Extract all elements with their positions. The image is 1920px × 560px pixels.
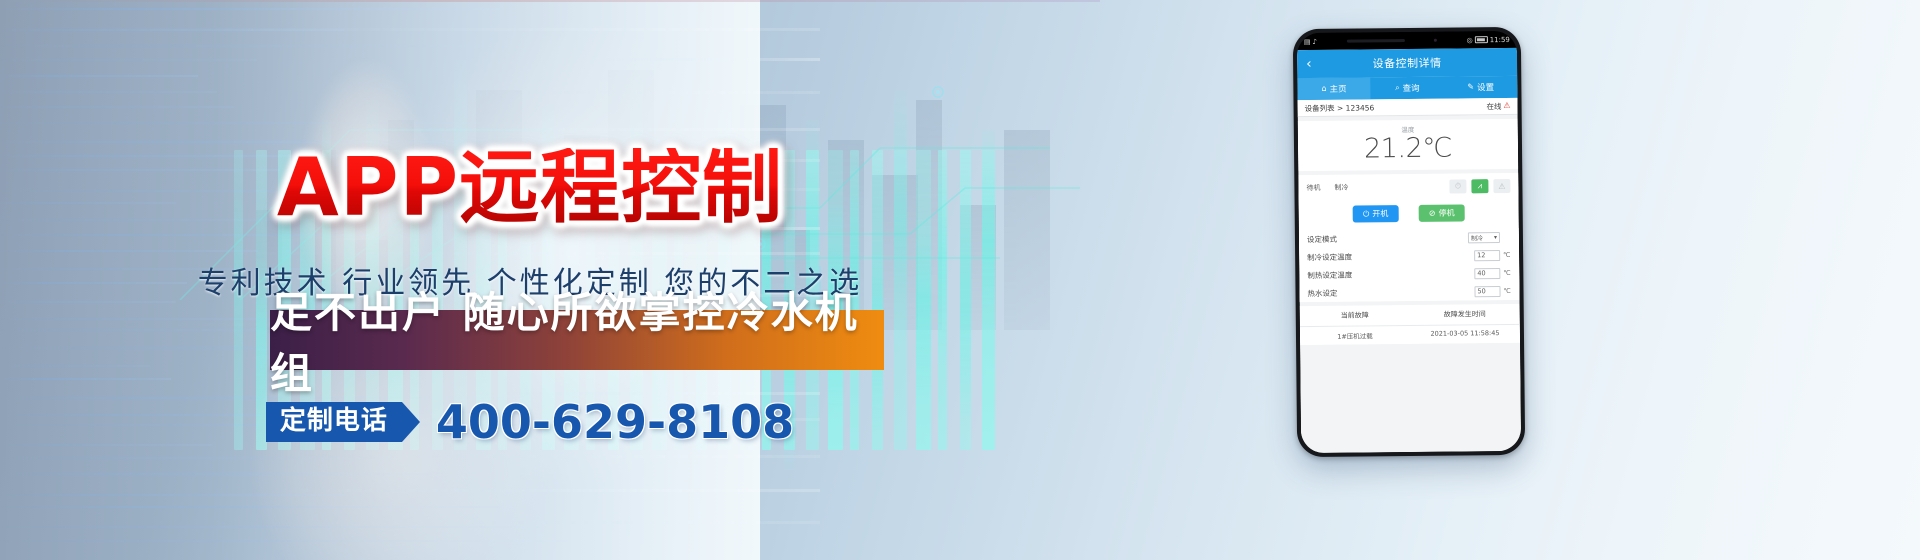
app-tab-bar: ⌂ 主页 ⌕ 查询 ✎ 设置: [1297, 76, 1517, 100]
phone-mockup: ▤ ♪ ◎ 11:59 ‹ 设备控制详情 ⌂: [1293, 27, 1525, 457]
warning-triangle-icon: ⚠: [1503, 102, 1510, 110]
setting-label-cool-temp: 制冷设定温度: [1307, 251, 1352, 262]
fault-cell-name: 1#压机过载: [1300, 330, 1410, 341]
chart-icon[interactable]: ⩘: [1471, 180, 1488, 194]
setting-row-hot-water: 热水设定 50 ℃: [1299, 282, 1519, 302]
status-badge-label: 在线: [1486, 101, 1501, 112]
fault-cell-time: 2021-03-05 11:58:45: [1410, 329, 1520, 340]
promo-banner: APP远程控制 专利技术 行业领先 个性化定制 您的不二之选 足不出户 随心所欲…: [0, 0, 1920, 560]
fault-table-header: 当前故障 故障发生时间: [1300, 304, 1520, 327]
status-bar-time: 11:59: [1490, 35, 1510, 43]
earpiece-speaker: [1347, 39, 1405, 43]
power-on-label: 开机: [1372, 209, 1388, 220]
breadcrumb: 设备列表 > 123456 在线 ⚠: [1298, 98, 1518, 117]
back-icon[interactable]: ‹: [1306, 57, 1312, 71]
settings-list: 设定模式 制冷 ▾ 制冷设定温度: [1299, 228, 1520, 302]
status-badge: 在线 ⚠: [1486, 100, 1510, 111]
mode-select-value: 制冷: [1471, 233, 1483, 242]
search-icon: ⌕: [1395, 84, 1400, 92]
phone-screen-frame: ▤ ♪ ◎ 11:59 ‹ 设备控制详情 ⌂: [1297, 31, 1521, 453]
temperature-card: 温度 21.2℃: [1298, 119, 1519, 172]
battery-icon: [1475, 36, 1488, 43]
app-screen: ‹ 设备控制详情 ⌂ 主页 ⌕ 查询 ✎ 设置: [1297, 48, 1521, 453]
tab-home[interactable]: ⌂ 主页: [1297, 77, 1371, 100]
setting-row-heat-temp: 制热设定温度 40 ℃: [1299, 264, 1519, 284]
screen-filler: [1300, 343, 1521, 453]
front-camera-icon: [1434, 39, 1437, 42]
heat-temp-input[interactable]: 40: [1474, 268, 1500, 279]
breadcrumb-path[interactable]: 设备列表 > 123456: [1305, 102, 1375, 114]
hero-ribbon-label: 足不出户 随心所欲掌控冷水机组: [270, 279, 884, 401]
setting-label-mode: 设定模式: [1307, 234, 1337, 245]
mode-card: 待机 制冷 ⏱ ⩘ ⚠ ⏻ 开机: [1298, 173, 1519, 302]
tab-settings[interactable]: ✎ 设置: [1444, 76, 1518, 99]
app-title: 设备控制详情: [1297, 54, 1517, 72]
stop-icon: ⊘: [1429, 209, 1436, 218]
power-button-row: ⏻ 开机 ⊘ 停机: [1299, 199, 1519, 230]
setting-unit-hot-water: ℃: [1503, 287, 1511, 295]
setting-label-hot-water: 热水设定: [1307, 288, 1337, 299]
mode-state-cooling: 制冷: [1334, 183, 1348, 193]
mode-select[interactable]: 制冷 ▾: [1468, 232, 1500, 243]
page-title: APP远程控制: [0, 148, 1060, 228]
fault-col-current: 当前故障: [1300, 310, 1410, 321]
alarm-icon[interactable]: ⚠: [1493, 179, 1510, 193]
table-row[interactable]: 1#压机过载 2021-03-05 11:58:45: [1300, 325, 1520, 345]
hero-ribbon: 足不出户 随心所欲掌控冷水机组: [270, 310, 884, 370]
home-icon: ⌂: [1321, 85, 1326, 93]
setting-row-cool-temp: 制冷设定温度 12 ℃: [1299, 246, 1519, 266]
fault-table: 当前故障 故障发生时间 1#压机过载 2021-03-05 11:58:45: [1300, 304, 1520, 345]
hot-water-input[interactable]: 50: [1474, 286, 1500, 297]
fault-col-time: 故障发生时间: [1410, 309, 1520, 320]
tab-query[interactable]: ⌕ 查询: [1371, 77, 1445, 100]
tab-settings-label: 设置: [1477, 81, 1494, 93]
temperature-value: 21.2℃: [1298, 134, 1518, 165]
app-navbar: ‹ 设备控制详情: [1297, 48, 1517, 78]
setting-unit-cool-temp: ℃: [1503, 251, 1511, 259]
power-icon: ⏻: [1363, 209, 1369, 219]
mode-row: 待机 制冷 ⏱ ⩘ ⚠: [1298, 173, 1518, 201]
mode-state-standby: 待机: [1306, 183, 1320, 193]
sound-icon: ♪: [1312, 37, 1317, 45]
tel-number[interactable]: 400-629-8108: [436, 395, 794, 449]
setting-row-mode: 设定模式 制冷 ▾: [1299, 228, 1519, 248]
tel-label: 定制电话: [266, 402, 402, 442]
timer-icon[interactable]: ⏱: [1449, 180, 1466, 194]
setting-unit-heat-temp: ℃: [1503, 269, 1511, 277]
power-off-button[interactable]: ⊘ 停机: [1419, 205, 1465, 222]
signal-icon: ▤: [1304, 38, 1311, 46]
contact-row: 定制电话 400-629-8108: [0, 395, 1060, 449]
power-off-label: 停机: [1438, 208, 1454, 219]
power-on-button[interactable]: ⏻ 开机: [1353, 205, 1399, 222]
hero-copy: APP远程控制 专利技术 行业领先 个性化定制 您的不二之选 足不出户 随心所欲…: [0, 0, 1100, 560]
tab-home-label: 主页: [1330, 83, 1347, 95]
setting-label-heat-temp: 制热设定温度: [1307, 269, 1352, 280]
tab-query-label: 查询: [1403, 82, 1420, 94]
location-icon: ◎: [1467, 36, 1473, 44]
wrench-icon: ✎: [1467, 83, 1474, 91]
cool-temp-input[interactable]: 12: [1474, 250, 1500, 261]
chevron-down-icon: ▾: [1494, 234, 1497, 241]
